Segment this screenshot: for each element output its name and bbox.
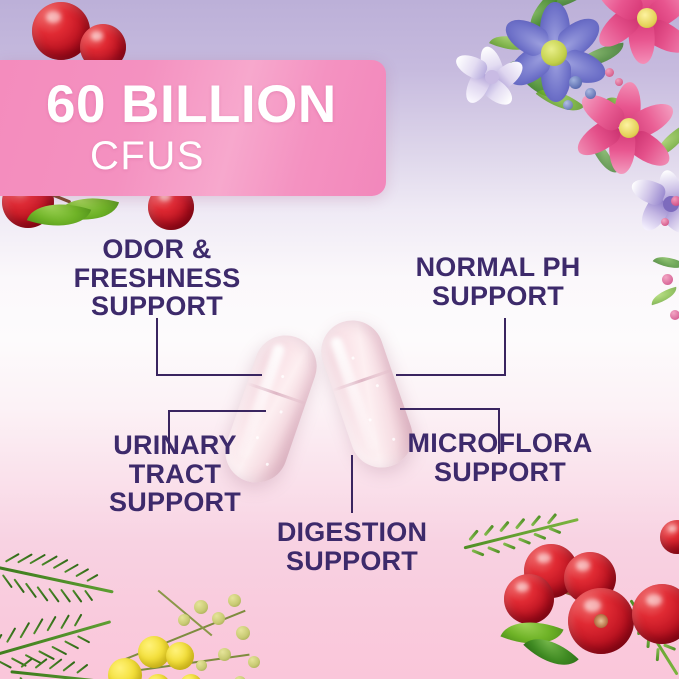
- infographic-canvas: 60 BILLION CFUS: [0, 0, 679, 679]
- capsule-highlight: [329, 335, 379, 452]
- floral-bouquet-top-right: [455, 0, 679, 232]
- green-leaf: [500, 609, 563, 658]
- white-lilac-flower: [461, 46, 527, 108]
- benefit-label-normal-ph: NORMAL PH SUPPORT: [396, 253, 600, 310]
- banner-headline: 60 BILLION: [46, 79, 386, 131]
- label-line: SUPPORT: [396, 458, 604, 487]
- mimosa-flower: [138, 636, 170, 668]
- cfu-banner: 60 BILLION CFUS: [0, 60, 386, 196]
- label-line: NORMAL PH: [396, 253, 600, 282]
- purple-flower-bottom: [637, 170, 679, 238]
- benefit-label-digestion: DIGESTION SUPPORT: [252, 518, 452, 575]
- benefit-label-odor-freshness: ODOR & FRESHNESS SUPPORT: [57, 235, 257, 321]
- label-line: SUPPORT: [57, 292, 257, 321]
- label-line: TRACT: [78, 460, 272, 489]
- label-line: FRESHNESS: [57, 264, 257, 293]
- cranberry: [504, 574, 554, 624]
- green-leaf-left: [30, 200, 100, 240]
- cranberries-bottom-right: [452, 492, 679, 679]
- pink-flower-upper: [603, 0, 679, 64]
- connector-digestion: [351, 455, 353, 513]
- cranberry: [564, 552, 616, 604]
- connector-normal-ph: [396, 318, 506, 380]
- floral-sprig-right-edge: [648, 248, 679, 368]
- mimosa-flower: [146, 674, 170, 679]
- benefit-label-microflora: MICROFLORA SUPPORT: [396, 429, 604, 486]
- blue-flower: [507, 4, 603, 100]
- label-line: DIGESTION: [252, 518, 452, 547]
- label-line: ODOR &: [57, 235, 257, 264]
- label-line: SUPPORT: [252, 547, 452, 576]
- mimosa-flower: [180, 674, 202, 679]
- label-line: SUPPORT: [78, 488, 272, 517]
- label-line: SUPPORT: [396, 282, 600, 311]
- mimosa-and-fern-bottom-left: [0, 516, 270, 679]
- cranberry: [632, 584, 679, 644]
- cranberry: [660, 520, 679, 554]
- cranberry: [568, 588, 634, 654]
- cranberry: [524, 544, 578, 598]
- mimosa-flower: [166, 642, 194, 670]
- label-line: MICROFLORA: [396, 429, 604, 458]
- label-line: URINARY: [78, 431, 272, 460]
- pink-flower-lower: [583, 80, 679, 176]
- benefit-label-urinary-tract: URINARY TRACT SUPPORT: [78, 431, 272, 517]
- green-leaf: [523, 625, 578, 679]
- mimosa-flower: [108, 658, 142, 679]
- connector-odor-freshness: [156, 318, 262, 380]
- cranberry: [32, 2, 90, 60]
- banner-subhead: CFUS: [90, 135, 386, 177]
